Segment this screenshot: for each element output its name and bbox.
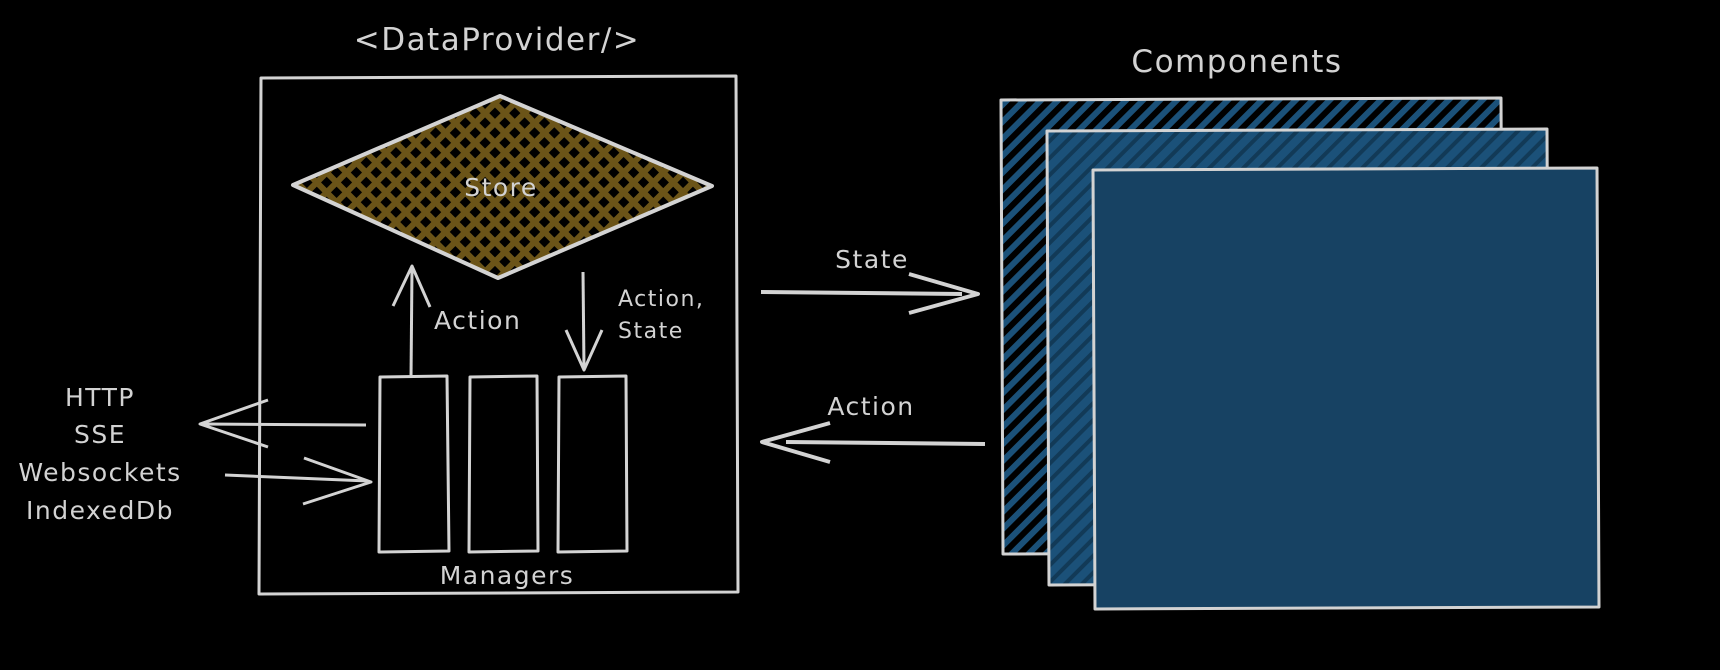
manager-box	[469, 376, 538, 552]
action-arrow-label: Action	[827, 392, 914, 421]
store-label: Store	[464, 173, 538, 202]
state-arrow	[761, 274, 978, 313]
action-up-label: Action	[434, 306, 521, 335]
diagram-canvas: <DataProvider/> Components Store Manager…	[0, 0, 1720, 670]
manager-box	[558, 376, 627, 552]
components-title: Components	[1131, 44, 1342, 80]
manager-box	[379, 376, 449, 552]
store-to-managers-arrow	[566, 272, 602, 370]
components-panel-front	[1093, 168, 1599, 609]
action-arrow	[762, 423, 985, 462]
inbound-io-arrow	[225, 458, 371, 504]
dataprovider-title: <DataProvider/>	[354, 22, 641, 58]
architecture-diagram: <DataProvider/> Components Store Manager…	[0, 0, 1720, 670]
action-down-label-line1: Action,	[618, 287, 704, 312]
managers-to-store-arrow	[393, 266, 430, 378]
state-arrow-label: State	[835, 245, 909, 274]
io-label-websockets: Websockets	[18, 458, 181, 487]
io-label-sse: SSE	[74, 420, 126, 449]
managers-label: Managers	[440, 561, 575, 590]
io-label-indexeddb: IndexedDb	[26, 496, 174, 525]
io-label-http: HTTP	[65, 383, 135, 412]
outbound-io-arrow	[200, 400, 366, 447]
action-down-label-line2: State	[618, 319, 684, 344]
